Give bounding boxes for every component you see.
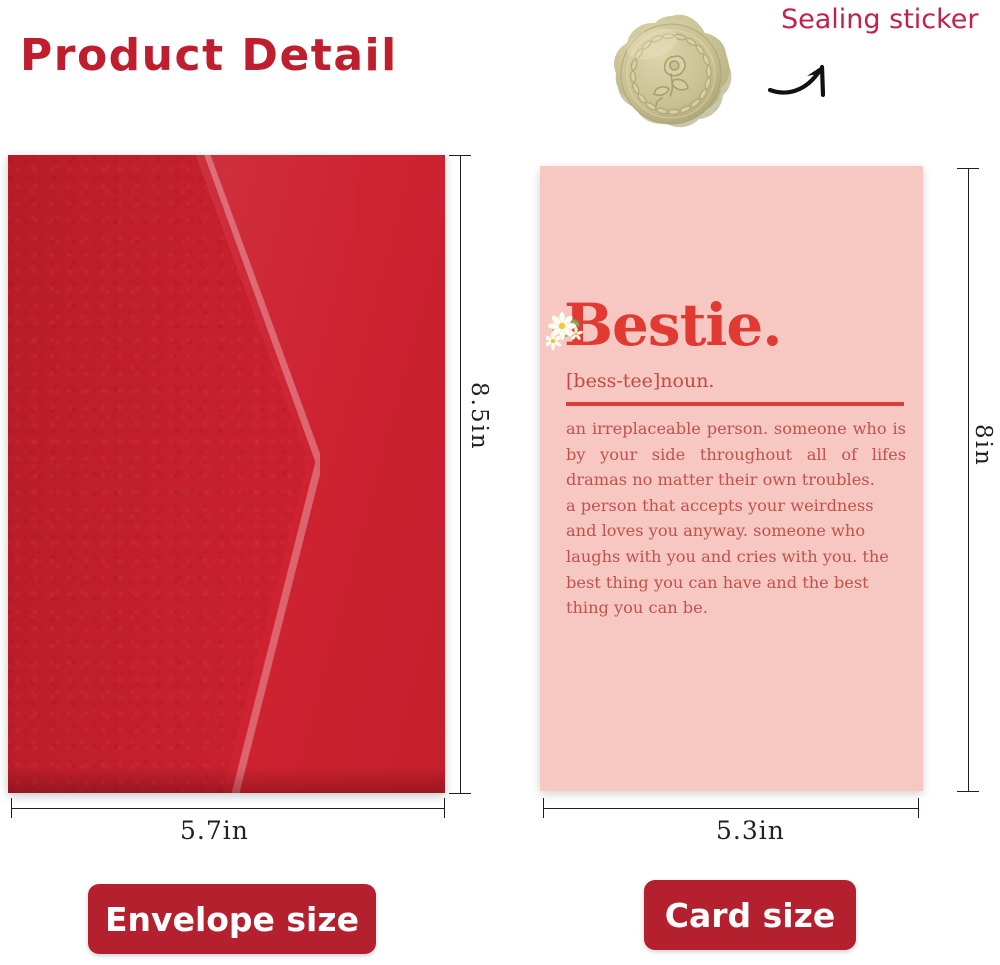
card-definition-paragraph-2: a person that accepts your weirdness and… bbox=[566, 493, 906, 621]
envelope-width-label: 5.7in bbox=[180, 816, 249, 845]
wax-seal-rose-icon bbox=[600, 8, 742, 140]
envelope-width-line bbox=[11, 808, 445, 809]
red-envelope-photo bbox=[8, 155, 445, 793]
sealing-sticker-label: Sealing sticker bbox=[781, 4, 979, 35]
envelope-height-label: 8.5in bbox=[466, 382, 492, 451]
card-definition-paragraph-1: an irreplaceable person. someone who is … bbox=[566, 416, 906, 493]
card-pronunciation: [bess-tee]noun. bbox=[566, 370, 714, 392]
pink-greeting-card-photo: Bestie. bbox=[540, 166, 923, 791]
card-width-cap-right bbox=[918, 798, 919, 818]
daisy-flowers-icon bbox=[546, 310, 590, 354]
page-title: Product Detail bbox=[20, 30, 398, 81]
card-definition-text: an irreplaceable person. someone who is … bbox=[566, 416, 906, 621]
envelope-width-cap-right bbox=[444, 798, 445, 818]
envelope-bottom-shadow bbox=[8, 767, 445, 793]
envelope-height-cap-bottom bbox=[449, 793, 471, 794]
curved-arrow-up-right-icon bbox=[766, 40, 866, 106]
card-height-line bbox=[968, 168, 969, 791]
card-height-label: 8in bbox=[970, 424, 996, 467]
envelope-size-badge: Envelope size bbox=[88, 884, 376, 954]
card-width-line bbox=[543, 808, 919, 809]
card-width-label: 5.3in bbox=[716, 816, 785, 845]
card-height-cap-bottom bbox=[957, 791, 979, 792]
card-divider bbox=[566, 402, 904, 406]
card-heading: Bestie. bbox=[564, 296, 782, 354]
envelope-height-line bbox=[460, 155, 461, 793]
card-size-badge: Card size bbox=[644, 880, 856, 950]
